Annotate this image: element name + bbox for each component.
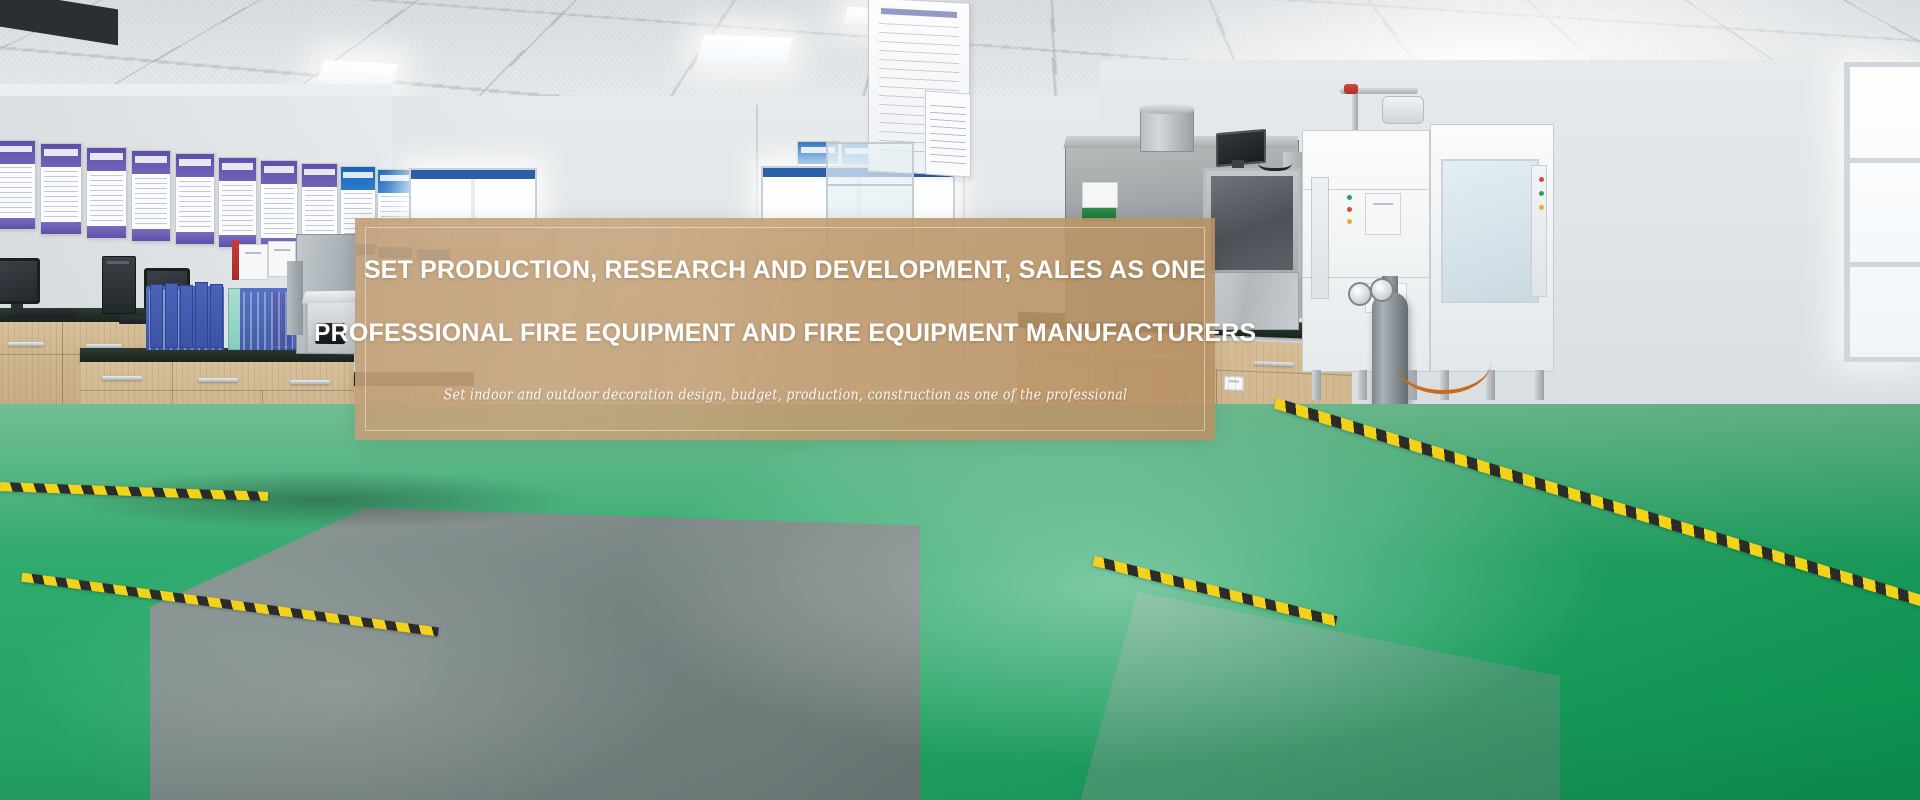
- wall-poster: [40, 143, 82, 235]
- red-frame-sample: [232, 240, 239, 280]
- status-indicator-green: [1539, 191, 1544, 196]
- power-outlet-icon: [1224, 376, 1244, 391]
- headline-line-1: SET PRODUCTION, RESEARCH AND DEVELOPMENT…: [364, 256, 1206, 285]
- hero-subtitle: Set indoor and outdoor decoration design…: [443, 386, 1127, 404]
- wall-chart-small: [925, 90, 971, 177]
- banner-hero-image: SET PRODUCTION, RESEARCH AND DEVELOPMENT…: [0, 0, 1920, 800]
- floor-gloss-highlight: [0, 404, 1920, 800]
- control-panel: [1365, 193, 1401, 235]
- status-indicator-amber: [1539, 205, 1544, 210]
- binder-row: [150, 284, 223, 348]
- status-indicator-green: [1347, 195, 1352, 200]
- wall-poster: [175, 153, 215, 245]
- chamber-glass-door: [1441, 159, 1539, 303]
- headline-line-2: PROFESSIONAL FIRE EQUIPMENT AND FIRE EQU…: [314, 319, 1257, 348]
- ceiling-panel-light: [317, 60, 398, 84]
- monitor-left: [0, 258, 40, 304]
- wall-poster: [260, 160, 298, 251]
- white-panel-sample: [238, 244, 268, 280]
- keyboard: [8, 309, 80, 318]
- chamber-control-strip: [1531, 165, 1547, 297]
- status-indicator-red: [1539, 177, 1544, 182]
- small-pressure-tank: [1382, 96, 1424, 124]
- wall-poster: [131, 150, 171, 242]
- wall-poster: [0, 140, 36, 230]
- pc-tower: [102, 256, 136, 314]
- ceiling-panel-light: [697, 34, 794, 63]
- wall-poster: [218, 157, 257, 248]
- pressure-gauge-icon: [1370, 278, 1394, 302]
- overlay-content: SET PRODUCTION, RESEARCH AND DEVELOPMENT…: [355, 218, 1215, 440]
- hero-text-overlay: SET PRODUCTION, RESEARCH AND DEVELOPMENT…: [355, 218, 1215, 440]
- window-right-tall: [1844, 62, 1920, 362]
- overhead-pipe-vertical: [1352, 88, 1358, 134]
- status-indicator-red: [1347, 207, 1352, 212]
- red-valve-icon: [1344, 84, 1358, 94]
- exhaust-chimney: [1140, 108, 1194, 152]
- status-indicator-amber: [1347, 219, 1352, 224]
- monitor-stand: [1232, 160, 1244, 168]
- bench-floor-shadow: [60, 470, 580, 530]
- wall-poster: [86, 147, 127, 239]
- oven-view-window: [1203, 168, 1301, 278]
- pressure-gauge-icon: [1348, 282, 1372, 306]
- equipment-nameplate: [1082, 182, 1118, 208]
- orange-gas-hose: [1395, 330, 1491, 394]
- pressure-regulator: [1348, 278, 1392, 308]
- power-cable: [1258, 152, 1292, 171]
